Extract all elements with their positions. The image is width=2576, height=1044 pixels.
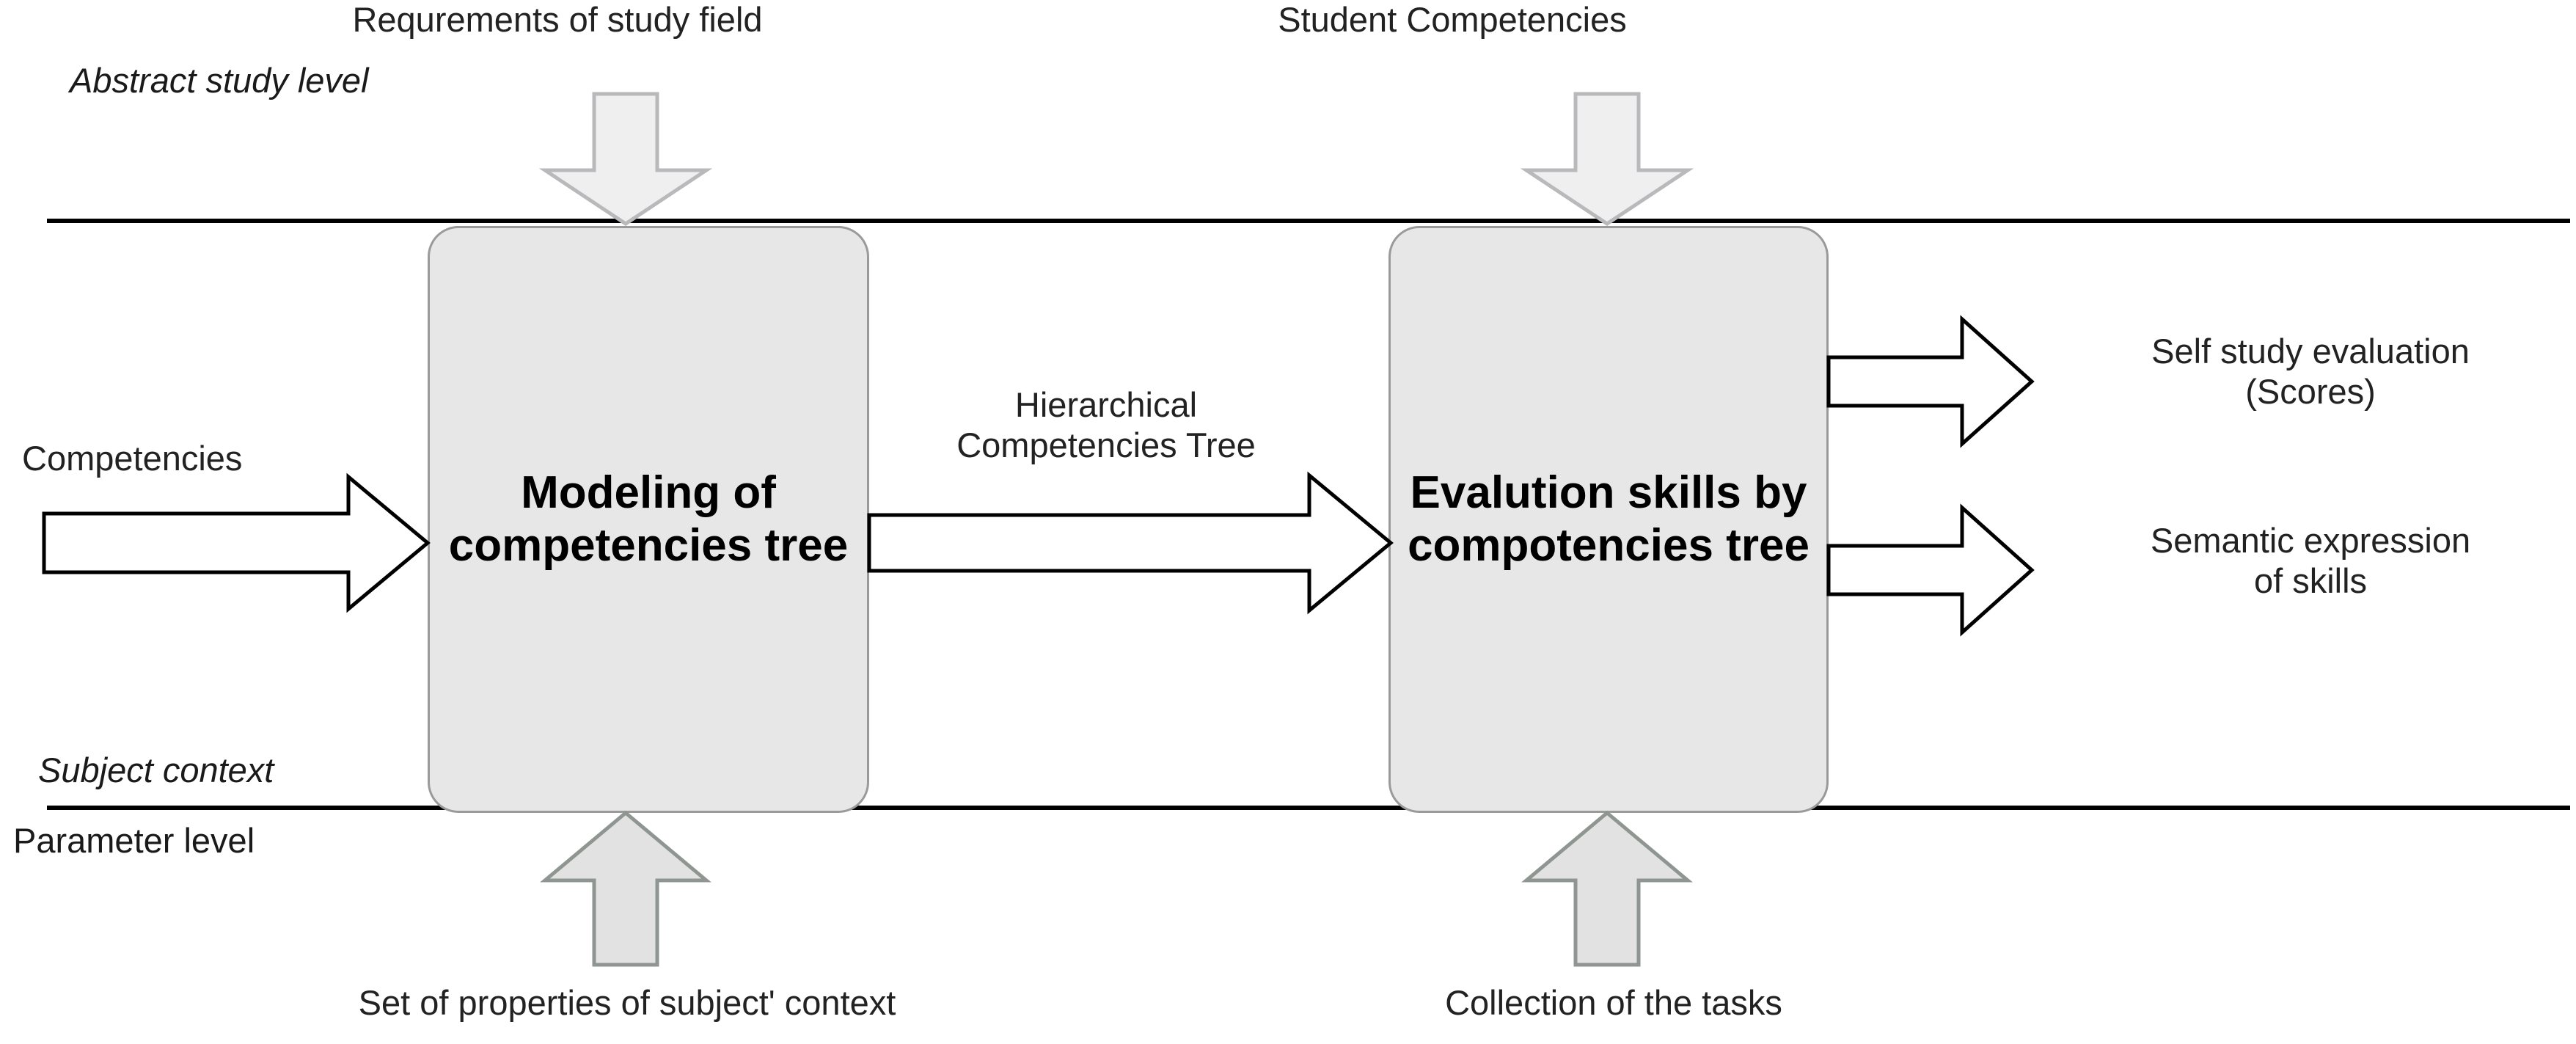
process-box-modeling[interactable]: Modeling of competencies tree — [428, 226, 869, 813]
output-label-self-study-evaluation: Self study evaluation (Scores) — [2054, 332, 2567, 412]
input-label-competencies: Competencies — [22, 439, 367, 479]
connector-label-hierarchical-tree: Hierarchical Competencies Tree — [886, 385, 1326, 465]
arrow-output-self-study-evaluation — [1829, 319, 2032, 444]
arrow-output-semantic-expression — [1829, 508, 2032, 632]
arrow-connector-hierarchical-tree — [869, 475, 1391, 610]
input-label-student-competencies: Student Competencies — [1086, 0, 1819, 40]
level-label-subject-context: Subject context — [38, 750, 274, 790]
arrow-top-student-competencies — [1526, 94, 1688, 224]
diagram-canvas: Requrements of study field Student Compe… — [0, 0, 2576, 1044]
arrow-top-requirements — [545, 94, 706, 224]
input-label-requirements: Requrements of study field — [279, 0, 836, 40]
output-label-semantic-expression: Semantic expression of skills — [2054, 521, 2567, 601]
divider-parameter-level — [47, 806, 2570, 810]
process-box-evaluation-label: Evalution skills by compotencies tree — [1391, 467, 1826, 572]
arrow-bottom-task-collection — [1526, 813, 1688, 965]
input-label-subject-properties: Set of properties of subject' context — [132, 983, 1122, 1023]
level-label-parameter: Parameter level — [13, 820, 255, 861]
process-box-evaluation[interactable]: Evalution skills by compotencies tree — [1388, 226, 1829, 813]
arrow-input-competencies — [44, 477, 428, 609]
arrow-bottom-subject-properties — [545, 813, 706, 965]
input-label-task-collection: Collection of the tasks — [1247, 983, 1980, 1023]
divider-abstract-study-level — [47, 219, 2570, 223]
process-box-modeling-label: Modeling of competencies tree — [430, 467, 867, 572]
level-label-abstract-study: Abstract study level — [70, 60, 369, 101]
